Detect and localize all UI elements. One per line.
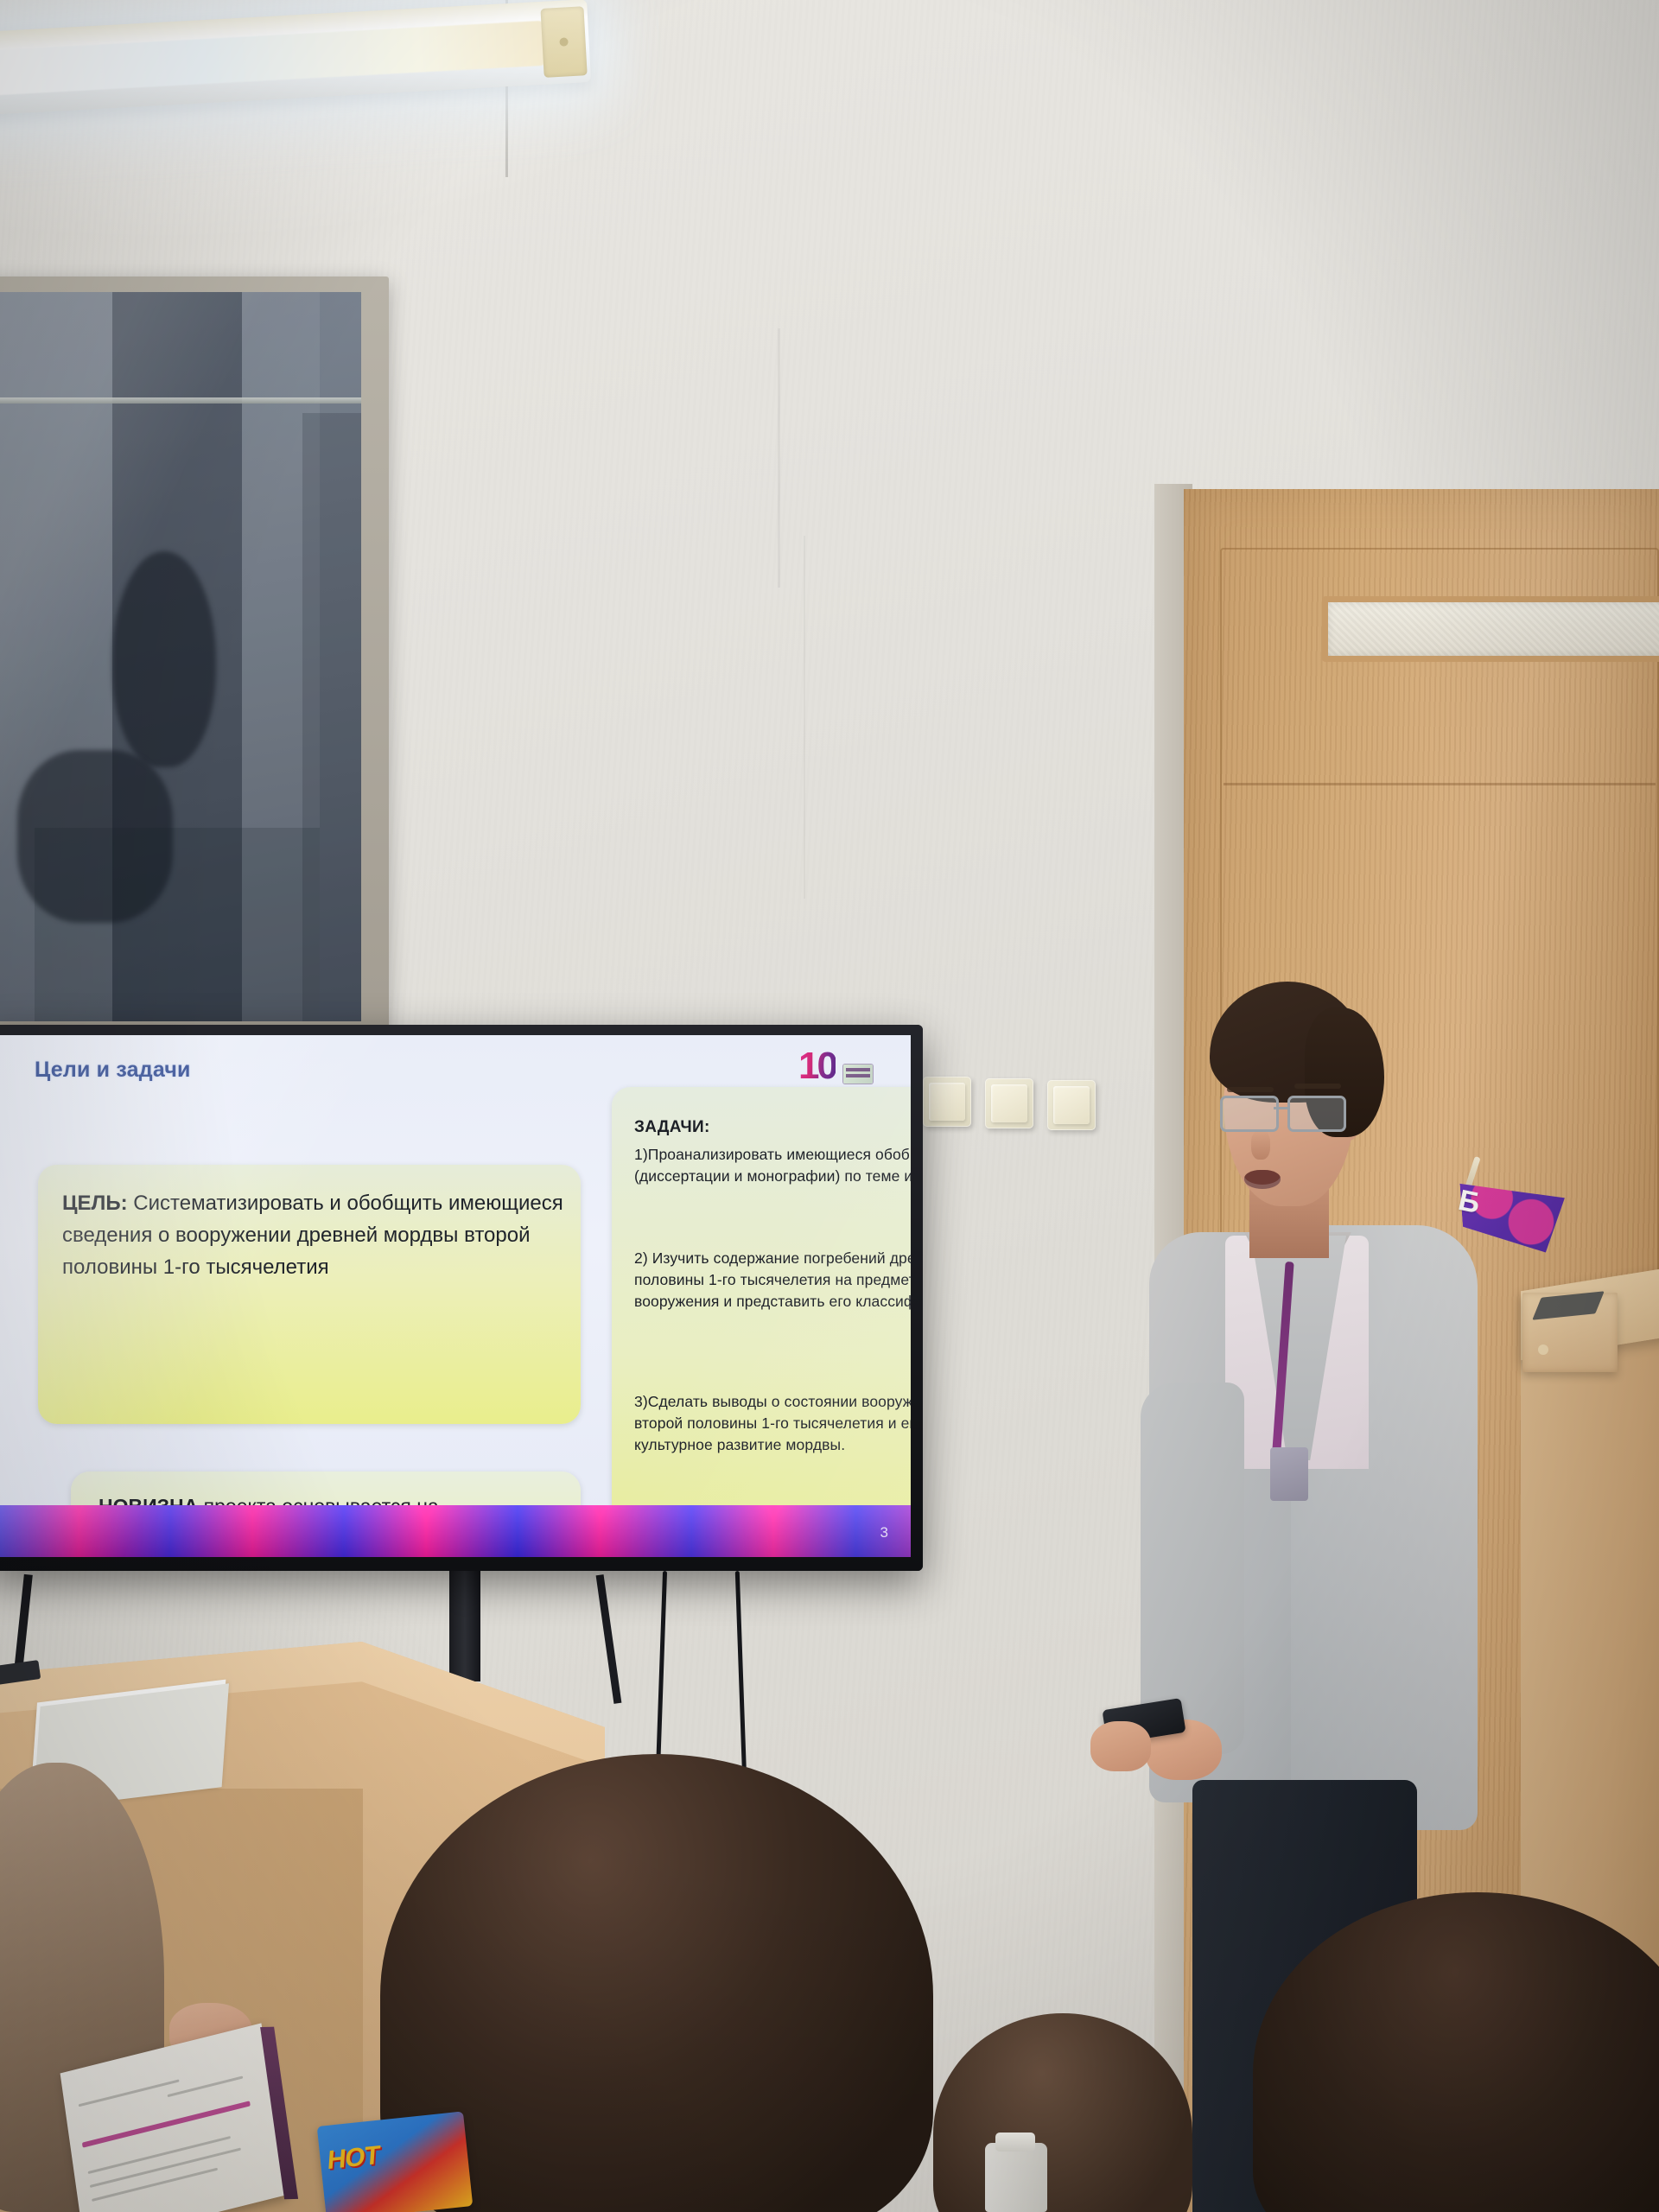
wall-seam-crack	[778, 328, 780, 588]
classroom-presentation-scene: Цели и задачи 10 ЦЕЛЬ: Систематизировать…	[0, 0, 1659, 2212]
presenter-eyebrow-right	[1294, 1084, 1341, 1089]
slide-footer-strip	[0, 1505, 911, 1557]
presenter-badge	[1270, 1447, 1308, 1501]
presenter-arm-left	[1141, 1382, 1244, 1754]
window-frame	[0, 276, 389, 1037]
folder-highlight-bar	[82, 2101, 251, 2147]
frosted-glass-texture	[1328, 602, 1659, 656]
logo-badge-icon	[843, 1065, 873, 1084]
folder-text-line-1	[79, 2079, 180, 2107]
tasks-heading: ЗАДАЧИ:	[634, 1118, 710, 1137]
window-glare	[0, 292, 361, 1021]
tv-stand-neck	[449, 1566, 480, 1681]
light-tube	[0, 21, 545, 97]
eyeglass-lens-left	[1220, 1096, 1279, 1132]
light-end-cap	[540, 6, 587, 78]
goal-box: ЦЕЛЬ: Систематизировать и обобщить имеющ…	[38, 1165, 581, 1424]
goal-text-container: ЦЕЛЬ: Систематизировать и обобщить имеющ…	[62, 1187, 563, 1283]
light-switch-3[interactable]	[1047, 1080, 1096, 1130]
tasks-box: ЗАДАЧИ: 1)Проанализировать имеющиеся обо…	[612, 1087, 911, 1557]
task-item-1: 1)Проанализировать имеющиеся обобщающие …	[634, 1144, 911, 1187]
presenter-eyebrow-left	[1227, 1087, 1274, 1092]
colorful-toy-package: НОТ	[317, 2111, 474, 2212]
slide-title: Цели и задачи	[35, 1058, 191, 1083]
goal-label: ЦЕЛЬ:	[62, 1192, 128, 1215]
wall-mounted-tv: Цели и задачи 10 ЦЕЛЬ: Систематизировать…	[0, 1025, 923, 1571]
door-cross-rail	[1224, 783, 1656, 785]
presentation-slide: Цели и задачи 10 ЦЕЛЬ: Систематизировать…	[0, 1035, 911, 1557]
water-bottle-cap	[995, 2133, 1035, 2152]
presenter-hand-left	[1090, 1721, 1151, 1771]
water-bottle	[985, 2143, 1047, 2212]
logo-10-text: 10	[798, 1047, 836, 1085]
wall-seam-crack-2	[804, 536, 805, 899]
goal-text: Систематизировать и обобщить имеющиеся с…	[62, 1192, 563, 1279]
presenter-mouth	[1244, 1170, 1281, 1189]
presenter-eyeglasses-icon	[1220, 1096, 1365, 1128]
podium-knob	[1538, 1344, 1548, 1355]
task-item-2: 2) Изучить содержание погребений древней…	[634, 1248, 911, 1313]
tv-screen[interactable]: Цели и задачи 10 ЦЕЛЬ: Систематизировать…	[0, 1035, 911, 1557]
window-glass	[0, 292, 361, 1021]
presenter-nose	[1251, 1130, 1270, 1160]
door-glass-panel	[1322, 596, 1659, 662]
anniversary-logo: 10	[798, 1047, 871, 1092]
task-item-3: 3)Сделать выводы о состоянии вооружения …	[634, 1391, 911, 1456]
folder-text-line-5	[92, 2168, 218, 2202]
slide-number: 3	[880, 1524, 888, 1541]
eyeglass-bridge	[1274, 1107, 1289, 1109]
eyeglass-lens-right	[1287, 1096, 1346, 1132]
light-switch-2[interactable]	[985, 1078, 1033, 1128]
toy-label: НОТ	[327, 2141, 380, 2177]
light-switch-1[interactable]	[923, 1077, 971, 1127]
